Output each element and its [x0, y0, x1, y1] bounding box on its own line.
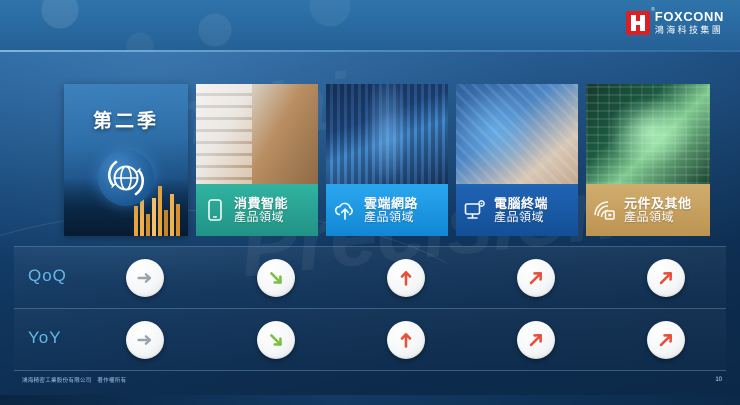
yoy-indicator-computing[interactable]: [517, 321, 555, 359]
slide-canvas: Hon Hai Precision 2022年第二季展望 FOXCONN 鴻海科…: [0, 0, 740, 405]
card-consumer-line1: 消費智能: [234, 197, 288, 211]
arrow-right-icon: [134, 329, 156, 351]
yoy-indicator-components[interactable]: [647, 321, 685, 359]
card-consumer-label: 消費智能 產品領域: [196, 184, 318, 236]
row-divider-top: [14, 246, 726, 247]
arrow-right-icon: [134, 267, 156, 289]
arrow-down-right-icon: [265, 267, 287, 289]
qoq-indicator-computing[interactable]: [517, 259, 555, 297]
row-qoq-label: QoQ: [28, 266, 67, 286]
logo-name-en: FOXCONN: [655, 10, 724, 23]
logo-name-cn: 鴻海科技集團: [655, 26, 724, 35]
card-cloud-line2: 產品領域: [364, 211, 418, 224]
arrow-down-right-icon: [265, 329, 287, 351]
card-components-photo: [586, 84, 710, 184]
header-divider: [0, 50, 740, 52]
monitor-gear-icon: [462, 197, 488, 223]
card-consumer-text: 消費智能 產品領域: [234, 197, 288, 224]
arrow-up-right-icon: [525, 267, 547, 289]
qoq-indicator-cloud[interactable]: [387, 259, 425, 297]
copyright-notice: 鴻海精密工業股份有限公司 著作權所有: [22, 376, 126, 384]
arrow-up-right-icon: [655, 267, 677, 289]
arrow-up-icon: [395, 267, 417, 289]
yoy-indicator-cloud[interactable]: [387, 321, 425, 359]
card-computing[interactable]: 電腦終端 產品領域: [456, 84, 578, 236]
card-computing-label: 電腦終端 產品領域: [456, 184, 578, 236]
row-yoy: YoY: [14, 309, 726, 371]
card-consumer[interactable]: 消費智能 產品領域: [196, 84, 318, 236]
card-components-label: 元件及其他 產品領域: [586, 184, 710, 236]
card-consumer-line2: 產品領域: [234, 211, 288, 224]
card-components-line2: 產品領域: [624, 211, 692, 224]
globe-refresh-icon: [98, 150, 154, 206]
cloud-upload-icon: [332, 197, 358, 223]
qoq-indicator-quarter[interactable]: [126, 259, 164, 297]
qoq-indicator-components[interactable]: [647, 259, 685, 297]
segment-card-strip: 第二季 消費智能 產品領域 雲端網路: [0, 84, 740, 236]
card-cloud-line1: 雲端網路: [364, 197, 418, 211]
row-divider-middle: [14, 308, 726, 309]
bottom-strip: [0, 395, 740, 405]
card-computing-line2: 產品領域: [494, 211, 548, 224]
foxconn-h-mark-icon: [626, 11, 650, 35]
smartphone-icon: [202, 197, 228, 223]
page-number: 10: [715, 377, 722, 383]
card-consumer-photo: [196, 84, 318, 184]
foxconn-logo: FOXCONN 鴻海科技集團: [626, 10, 724, 35]
arrow-up-right-icon: [655, 329, 677, 351]
arrow-up-right-icon: [525, 329, 547, 351]
yoy-indicator-consumer[interactable]: [257, 321, 295, 359]
card-components-text: 元件及其他 產品領域: [624, 197, 692, 224]
chip-signal-icon: [592, 197, 618, 223]
yoy-indicator-quarter[interactable]: [126, 321, 164, 359]
row-qoq: QoQ: [14, 247, 726, 309]
qoq-indicator-consumer[interactable]: [257, 259, 295, 297]
card-cloud-photo: [326, 84, 448, 184]
card-cloud-text: 雲端網路 產品領域: [364, 197, 418, 224]
card-computing-line1: 電腦終端: [494, 197, 548, 211]
card-cloud-label: 雲端網路 產品領域: [326, 184, 448, 236]
arrow-up-icon: [395, 329, 417, 351]
row-divider-bottom: [14, 370, 726, 371]
card-computing-photo: [456, 84, 578, 184]
card-components-line1: 元件及其他: [624, 197, 692, 211]
logo-text: FOXCONN 鴻海科技集團: [655, 10, 724, 35]
card-quarter-title: 第二季: [64, 106, 188, 133]
card-components[interactable]: 元件及其他 產品領域: [586, 84, 710, 236]
card-computing-text: 電腦終端 產品領域: [494, 197, 548, 224]
row-yoy-label: YoY: [28, 328, 62, 348]
card-cloud[interactable]: 雲端網路 產品領域: [326, 84, 448, 236]
card-quarter[interactable]: 第二季: [64, 84, 188, 236]
